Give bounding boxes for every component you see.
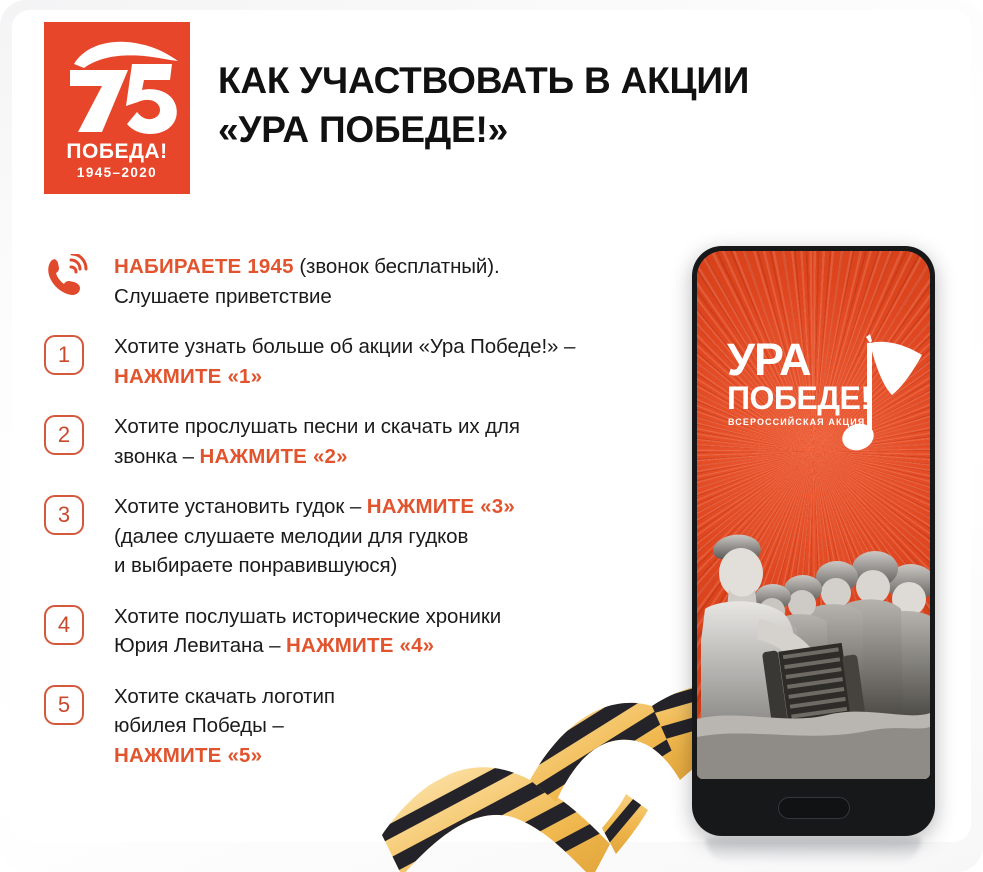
step-cta-text: НАЖМИТЕ «3» xyxy=(367,495,515,518)
step-row-call: НАБИРАЕТЕ 1945 (звонок бесплатный). Слуш… xyxy=(44,252,654,311)
step-row-2: 2Хотите прослушать песни и скачать их дл… xyxy=(44,411,654,471)
call-step-rest: (звонок бесплатный). xyxy=(294,255,500,278)
call-icon-cell xyxy=(44,252,114,298)
step-number-badge-1[interactable]: 1 xyxy=(44,335,84,375)
step-row-5: 5Хотите скачать логотипюбилея Победы –НА… xyxy=(44,681,654,771)
step-5-line-3: НАЖМИТЕ «5» xyxy=(114,741,654,771)
step-1-line-1: Хотите узнать больше об акции «Ура Побед… xyxy=(114,332,654,362)
step-row-4: 4Хотите послушать исторические хроникиЮр… xyxy=(44,601,654,661)
steps-list: НАБИРАЕТЕ 1945 (звонок бесплатный). Слуш… xyxy=(44,252,654,790)
page-title-line-1: КАК УЧАСТВОВАТЬ В АКЦИИ xyxy=(218,56,918,105)
step-marker-cell: 4 xyxy=(44,601,114,645)
step-3-line-1: Хотите установить гудок – НАЖМИТЕ «3» xyxy=(114,492,654,522)
step-plain-text: Хотите скачать логотип xyxy=(114,685,335,708)
step-plain-text: Хотите послушать исторические хроники xyxy=(114,605,501,628)
step-text-2: Хотите прослушать песни и скачать их для… xyxy=(114,411,654,471)
step-3-line-2: (далее слушаете мелодии для гудков xyxy=(114,522,654,552)
step-text-1: Хотите узнать больше об акции «Ура Побед… xyxy=(114,331,654,391)
numbered-steps-container: 1Хотите узнать больше об акции «Ура Побе… xyxy=(44,331,654,770)
step-2-line-1: Хотите прослушать песни и скачать их для xyxy=(114,412,654,442)
step-number-badge-4[interactable]: 4 xyxy=(44,605,84,645)
logo-years-text: 1945–2020 xyxy=(44,165,190,180)
page-title: КАК УЧАСТВОВАТЬ В АКЦИИ «УРА ПОБЕДЕ!» xyxy=(218,56,918,154)
soldiers-photo xyxy=(697,511,930,779)
step-cta-text: НАЖМИТЕ «4» xyxy=(286,634,434,657)
step-2-line-2: звонка – НАЖМИТЕ «2» xyxy=(114,442,654,472)
poster-root: ПОБЕДА! 1945–2020 КАК УЧАСТВОВАТЬ В АКЦИ… xyxy=(0,0,983,872)
step-4-line-1: Хотите послушать исторические хроники xyxy=(114,602,654,632)
step-text-4: Хотите послушать исторические хроникиЮри… xyxy=(114,601,654,661)
page-title-line-2: «УРА ПОБЕДЕ!» xyxy=(218,105,918,154)
step-plain-text: Хотите узнать больше об акции «Ура Побед… xyxy=(114,335,575,358)
step-cta-text: НАЖМИТЕ «2» xyxy=(200,445,348,468)
step-4-line-2: Юрия Левитана – НАЖМИТЕ «4» xyxy=(114,631,654,661)
step-plain-text: и выбираете понравившуюся) xyxy=(114,554,397,577)
step-1-line-2: НАЖМИТЕ «1» xyxy=(114,362,654,392)
call-step-line-1: НАБИРАЕТЕ 1945 (звонок бесплатный). xyxy=(114,252,654,282)
step-cta-text: НАЖМИТЕ «5» xyxy=(114,744,262,767)
victory-75-logo: ПОБЕДА! 1945–2020 xyxy=(44,22,190,194)
step-marker-cell: 5 xyxy=(44,681,114,725)
step-text-5: Хотите скачать логотипюбилея Победы –НАЖ… xyxy=(114,681,654,771)
step-plain-text: (далее слушаете мелодии для гудков xyxy=(114,525,468,548)
step-text-3: Хотите установить гудок – НАЖМИТЕ «3»(да… xyxy=(114,491,654,581)
phone-screen: УРА ПОБЕДЕ! ВСЕРОССИЙСКАЯ АКЦИЯ xyxy=(697,251,930,779)
step-number-badge-3[interactable]: 3 xyxy=(44,495,84,535)
call-step-line-2: Слушаете приветствие xyxy=(114,282,654,312)
flag-music-note-icon xyxy=(840,333,924,463)
step-plain-text: звонка – xyxy=(114,445,200,468)
step-plain-text: юбилея Победы – xyxy=(114,714,284,737)
call-step-bold: НАБИРАЕТЕ 1945 xyxy=(114,255,294,278)
phone-mockup: УРА ПОБЕДЕ! ВСЕРОССИЙСКАЯ АКЦИЯ xyxy=(692,246,935,836)
step-plain-text: Хотите прослушать песни и скачать их для xyxy=(114,415,520,438)
step-plain-text: Юрия Левитана – xyxy=(114,634,286,657)
step-number-badge-2[interactable]: 2 xyxy=(44,415,84,455)
step-3-line-3: и выбираете понравившуюся) xyxy=(114,551,654,581)
call-step-text: НАБИРАЕТЕ 1945 (звонок бесплатный). Слуш… xyxy=(114,252,654,311)
step-row-1: 1Хотите узнать больше об акции «Ура Побе… xyxy=(44,331,654,391)
step-number-badge-5[interactable]: 5 xyxy=(44,685,84,725)
step-marker-cell: 2 xyxy=(44,411,114,455)
step-marker-cell: 3 xyxy=(44,491,114,535)
step-marker-cell: 1 xyxy=(44,331,114,375)
step-plain-text: Хотите установить гудок – xyxy=(114,495,367,518)
ringing-phone-icon xyxy=(44,254,90,298)
step-5-line-2: юбилея Победы – xyxy=(114,711,654,741)
logo-75-mark xyxy=(44,30,190,138)
step-5-line-1: Хотите скачать логотип xyxy=(114,682,654,712)
phone-home-button[interactable] xyxy=(778,797,850,819)
phone-reflection xyxy=(706,838,921,864)
step-cta-text: НАЖМИТЕ «1» xyxy=(114,365,262,388)
phone-body: УРА ПОБЕДЕ! ВСЕРОССИЙСКАЯ АКЦИЯ xyxy=(692,246,935,836)
logo-pobeda-text: ПОБЕДА! xyxy=(44,140,190,164)
step-row-3: 3Хотите установить гудок – НАЖМИТЕ «3»(д… xyxy=(44,491,654,581)
